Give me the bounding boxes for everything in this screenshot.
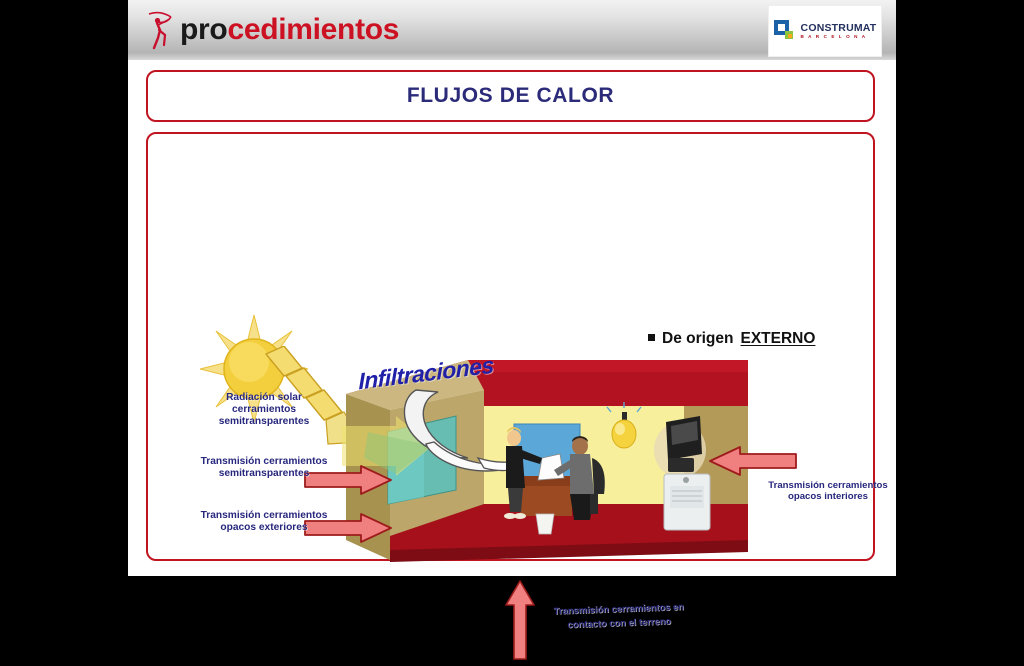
sponsor-subtitle: B A R C E L O N A (801, 35, 877, 40)
sponsor-name: CONSTRUMAT (801, 23, 877, 34)
sponsor-logo: CONSTRUMAT B A R C E L O N A (768, 5, 882, 57)
brand-logo-text: procedimientos (180, 13, 399, 47)
brand-logo-accent: cedimientos (227, 13, 399, 46)
brand-logo: procedimientos (146, 8, 399, 52)
content-box: Radiación solar cerramientos semitranspa… (146, 132, 875, 561)
page-title: FLUJOS DE CALOR (148, 72, 873, 120)
arrow-transmission-ground (503, 579, 537, 666)
bullet-text: De origen (662, 330, 733, 348)
letterbox-right (896, 0, 1024, 576)
brand-logo-prefix: pro (180, 13, 227, 46)
letterbox-left (0, 0, 128, 576)
presentation-slide: procedimientos CONSTRUMAT B A R C (128, 0, 896, 576)
arrow-transmission-opaque-interior (706, 445, 798, 482)
bullet-emphasis: EXTERNO (740, 330, 815, 348)
construmat-square-icon (774, 20, 796, 42)
label-transmission-semitransparent: Transmisión cerramientos semitransparent… (200, 456, 328, 480)
label-solar-radiation: Radiación solar cerramientos semitranspa… (200, 392, 328, 428)
label-transmission-ground: Transmisión cerramientos en contacto con… (544, 599, 695, 631)
archer-figure-icon (146, 8, 176, 52)
slide-header: procedimientos CONSTRUMAT B A R C (128, 0, 896, 60)
title-box: FLUJOS DE CALOR (146, 70, 875, 122)
bullet-marker-icon (648, 334, 655, 341)
screenshot-canvas: procedimientos CONSTRUMAT B A R C (0, 0, 1024, 576)
label-transmission-opaque-interior: Transmisión cerramientos opacos interior… (768, 480, 888, 503)
label-transmission-opaque-exterior: Transmisión cerramientos opacos exterior… (200, 510, 328, 534)
bullet-external-origin: De origen EXTERNO (648, 330, 815, 348)
